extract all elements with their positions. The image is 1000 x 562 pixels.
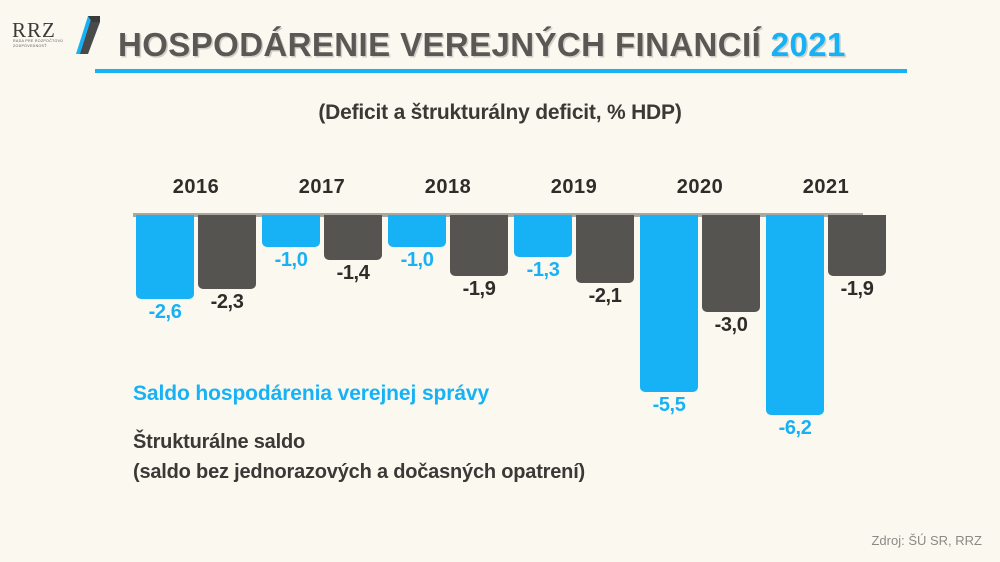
chart-legend: Saldo hospodárenia verejnej správy Štruk… [133,382,833,487]
bar-dark-2021[interactable] [828,215,886,276]
bar-dark-2017[interactable] [324,215,382,260]
value-label-dark-2019: -2,1 [569,285,641,308]
value-label-blue-2019: -1,3 [507,259,579,282]
page-title-year: 2021 [771,26,846,63]
bar-blue-2016[interactable] [136,215,194,299]
page-title: HOSPODÁRENIE VEREJNÝCH FINANCIÍ 2021 [118,26,846,64]
value-label-dark-2018: -1,9 [443,278,515,301]
x-axis-label-2021: 2021 [763,176,889,199]
page-title-main: HOSPODÁRENIE VEREJNÝCH FINANCIÍ [118,26,761,63]
value-label-dark-2021: -1,9 [821,278,893,301]
x-axis-label-2018: 2018 [385,176,511,199]
bar-dark-2018[interactable] [450,215,508,276]
source-note: Zdroj: ŠÚ SR, RRZ [871,533,982,548]
bar-dark-2016[interactable] [198,215,256,289]
x-axis-label-2016: 2016 [133,176,259,199]
bar-dark-2019[interactable] [576,215,634,283]
title-underline-rule [95,69,907,73]
x-axis-label-2017: 2017 [259,176,385,199]
x-axis-label-2020: 2020 [637,176,763,199]
x-axis-label-2019: 2019 [511,176,637,199]
legend-item-strukturalne-line1: Štrukturálne saldo [133,427,833,457]
bar-blue-2019[interactable] [514,215,572,257]
bar-dark-2020[interactable] [702,215,760,312]
bar-blue-2020[interactable] [640,215,698,392]
chart-subtitle: (Deficit a štrukturálny deficit, % HDP) [0,101,1000,125]
legend-item-strukturalne: Štrukturálne saldo (saldo bez jednorazov… [133,427,833,487]
value-label-dark-2020: -3,0 [695,314,767,337]
rrz-swoosh-icon [66,14,100,54]
value-label-dark-2017: -1,4 [317,262,389,285]
legend-item-strukturalne-line2: (saldo bez jednorazových a dočasných opa… [133,457,833,487]
legend-item-saldo: Saldo hospodárenia verejnej správy [133,382,833,406]
value-label-blue-2018: -1,0 [381,249,453,272]
bar-blue-2018[interactable] [388,215,446,247]
value-label-dark-2016: -2,3 [191,291,263,314]
bar-blue-2017[interactable] [262,215,320,247]
rrz-logo: RRZ RADA PRE ROZPOČTOVÚ ZODPOVEDNOSŤ [8,8,100,56]
